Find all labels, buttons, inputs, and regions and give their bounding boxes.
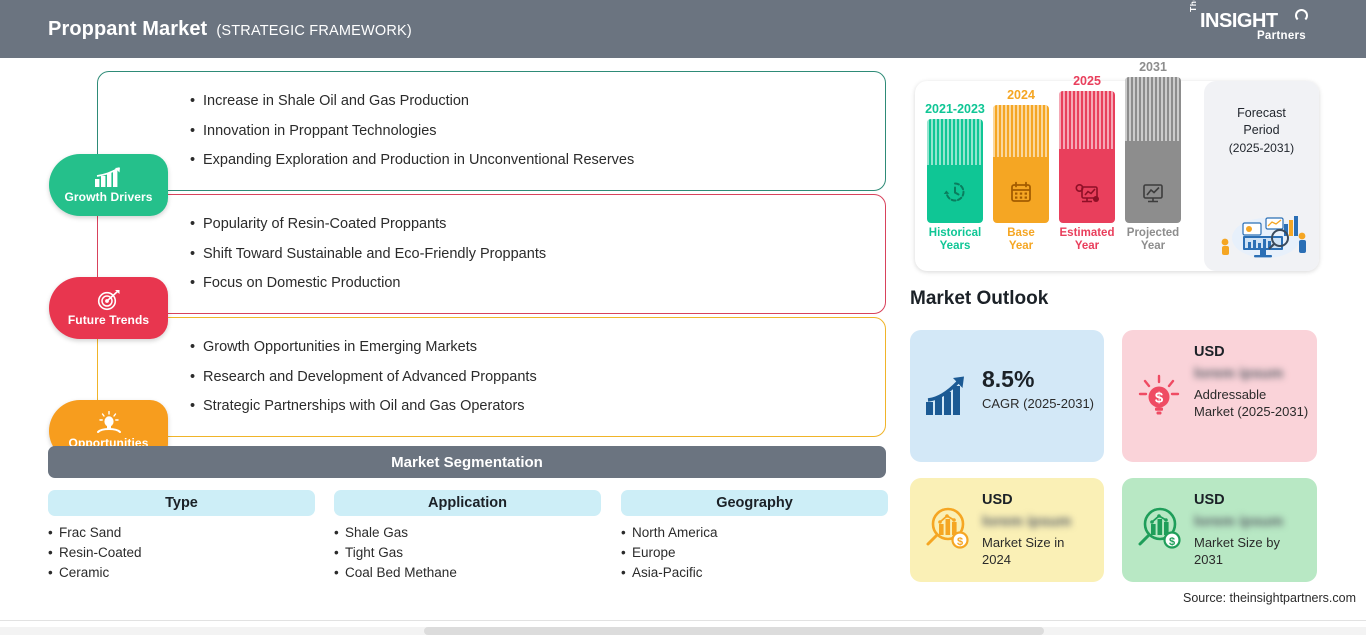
outlook-card-addressable-market[interactable]: $ USD lorem ipsum Addressable Market (20… [1122, 330, 1317, 462]
blurred-value: lorem ipsum [1194, 513, 1309, 530]
growth-drivers-panel: Increase in Shale Oil and Gas Production… [97, 71, 886, 191]
list-item: Innovation in Proppant Technologies [190, 123, 634, 140]
lightbulb-dollar-icon: $ [1136, 374, 1182, 425]
left-column: Increase in Shale Oil and Gas Production… [0, 58, 900, 618]
card-body: USD lorem ipsum Market Size by 2031 [1194, 492, 1309, 568]
blurred-value: lorem ipsum [1194, 365, 1309, 382]
logo-partners-text: Partners [1257, 30, 1306, 42]
svg-text:$: $ [1155, 390, 1164, 407]
clock-history-icon [927, 180, 983, 209]
list-item: Coal Bed Methane [334, 563, 601, 583]
page-title: Proppant Market [48, 18, 207, 41]
segmentation-column-application: Application Shale Gas Tight Gas Coal Bed… [334, 490, 601, 583]
list-item: Research and Development of Advanced Pro… [190, 369, 537, 386]
growth-drivers-bullets: Increase in Shale Oil and Gas Production… [190, 72, 634, 190]
bar-chart-growth-icon [94, 166, 124, 188]
horizontal-scrollbar-thumb[interactable] [424, 627, 1044, 635]
footer-divider [0, 620, 1366, 621]
forecast-gear-chart-icon [1059, 182, 1115, 209]
currency-label: USD [982, 492, 1096, 508]
horizontal-scrollbar-track[interactable] [0, 627, 1366, 635]
lightbulb-hand-icon [96, 412, 122, 434]
forecast-bars: 2021-2023 HistoricalYears [927, 81, 1201, 271]
forecast-period-panel: ForecastPeriod (2025-2031) [1204, 81, 1319, 271]
future-trends-bullets: Popularity of Resin-Coated Proppants Shi… [190, 195, 546, 313]
card-label: Addressable Market (2025-2031) [1194, 386, 1309, 420]
future-trends-badge[interactable]: Future Trends [49, 277, 168, 339]
list-item: Frac Sand [48, 523, 315, 543]
analytics-dashboard-illustration [1210, 198, 1313, 265]
list-item: Growth Opportunities in Emerging Markets [190, 339, 537, 356]
magnifier-chart-dollar-icon: $ [924, 504, 972, 557]
bar-caption: BaseYear [1007, 227, 1035, 253]
badge-label: Growth Drivers [64, 190, 152, 204]
bar-chart-arrow-icon [924, 374, 970, 423]
svg-text:$: $ [957, 536, 963, 548]
forecast-bar-projected: 2031 ProjectedYear [1125, 60, 1181, 253]
currency-label: USD [1194, 344, 1309, 360]
calendar-icon [993, 180, 1049, 209]
list-item: Tight Gas [334, 543, 601, 563]
page-header: Proppant Market (STRATEGIC FRAMEWORK) Th… [0, 0, 1366, 58]
list-item: Expanding Exploration and Production in … [190, 152, 634, 169]
bar-caption: EstimatedYear [1060, 227, 1115, 253]
svg-text:$: $ [1169, 536, 1175, 548]
outlook-card-market-size-2031[interactable]: $ USD lorem ipsum Market Size by 2031 [1122, 478, 1317, 582]
list-item: Shale Gas [334, 523, 601, 543]
list-item: Asia-Pacific [621, 563, 888, 583]
card-body: USD lorem ipsum Addressable Market (2025… [1194, 344, 1309, 420]
future-trends-panel: Popularity of Resin-Coated Proppants Shi… [97, 194, 886, 314]
cagr-label: CAGR (2025-2031) [982, 395, 1096, 412]
outlook-card-cagr[interactable]: 8.5% CAGR (2025-2031) [910, 330, 1104, 462]
market-segmentation-header: Market Segmentation [48, 446, 886, 478]
infographic-page: Proppant Market (STRATEGIC FRAMEWORK) Th… [0, 0, 1366, 635]
list-item: Resin-Coated [48, 543, 315, 563]
bar-year-label: 2025 [1073, 74, 1101, 88]
badge-label: Future Trends [68, 313, 149, 327]
magnifier-chart-dollar-icon: $ [1136, 504, 1184, 557]
market-outlook-title: Market Outlook [910, 288, 1048, 310]
list-item: Europe [621, 543, 888, 563]
forecast-period-title: ForecastPeriod [1204, 81, 1319, 139]
outlook-card-market-size-2024[interactable]: $ USD lorem ipsum Market Size in 2024 [910, 478, 1104, 582]
card-label: Market Size by 2031 [1194, 534, 1309, 568]
opportunities-panel: Growth Opportunities in Emerging Markets… [97, 317, 886, 437]
source-attribution: Source: theinsightpartners.com [1183, 591, 1356, 605]
presentation-chart-icon [1125, 182, 1181, 209]
segmentation-column-type: Type Frac Sand Resin-Coated Ceramic [48, 490, 315, 583]
forecast-period-range: (2025-2031) [1204, 141, 1319, 155]
card-label: Market Size in 2024 [982, 534, 1096, 568]
opportunities-bullets: Growth Opportunities in Emerging Markets… [190, 318, 537, 436]
card-body: USD lorem ipsum Market Size in 2024 [982, 492, 1096, 568]
header-title-group: Proppant Market (STRATEGIC FRAMEWORK) [48, 18, 412, 41]
right-column: 2021-2023 HistoricalYears [900, 58, 1366, 618]
segment-header: Geography [621, 490, 888, 516]
cagr-value: 8.5% [982, 366, 1096, 393]
page-subtitle: (STRATEGIC FRAMEWORK) [216, 23, 412, 39]
list-item: Popularity of Resin-Coated Proppants [190, 216, 546, 233]
logo-circle-icon [1295, 9, 1308, 22]
segment-list: North America Europe Asia-Pacific [621, 523, 888, 583]
currency-label: USD [1194, 492, 1309, 508]
segment-header: Application [334, 490, 601, 516]
target-dart-icon [97, 289, 121, 311]
forecast-bar-estimated: 2025 [1059, 74, 1115, 253]
bar-stripes [993, 105, 1049, 157]
segment-list: Shale Gas Tight Gas Coal Bed Methane [334, 523, 601, 583]
segment-list: Frac Sand Resin-Coated Ceramic [48, 523, 315, 583]
list-item: Increase in Shale Oil and Gas Production [190, 93, 634, 110]
list-item: North America [621, 523, 888, 543]
bar-year-label: 2021-2023 [925, 102, 985, 116]
forecast-bar-base: 2024 [993, 88, 1049, 253]
forecast-bar-historical: 2021-2023 HistoricalYears [927, 102, 983, 253]
segment-header: Type [48, 490, 315, 516]
bar-caption: HistoricalYears [929, 227, 981, 253]
list-item: Focus on Domestic Production [190, 275, 546, 292]
bar-stripes [1125, 77, 1181, 141]
logo-the-text: The [1188, 0, 1198, 12]
growth-drivers-badge[interactable]: Growth Drivers [49, 154, 168, 216]
segmentation-column-geography: Geography North America Europe Asia-Paci… [621, 490, 888, 583]
list-item: Shift Toward Sustainable and Eco-Friendl… [190, 246, 546, 263]
blurred-value: lorem ipsum [982, 513, 1096, 530]
bar-year-label: 2024 [1007, 88, 1035, 102]
card-body: 8.5% CAGR (2025-2031) [982, 366, 1096, 412]
bar-stripes [927, 119, 983, 165]
forecast-period-card: 2021-2023 HistoricalYears [915, 81, 1319, 271]
list-item: Strategic Partnerships with Oil and Gas … [190, 398, 537, 415]
insight-partners-logo: The INSIGHT Partners [1188, 10, 1308, 50]
bar-year-label: 2031 [1139, 60, 1167, 74]
list-item: Ceramic [48, 563, 315, 583]
bar-stripes [1059, 91, 1115, 149]
bar-caption: ProjectedYear [1127, 227, 1179, 253]
